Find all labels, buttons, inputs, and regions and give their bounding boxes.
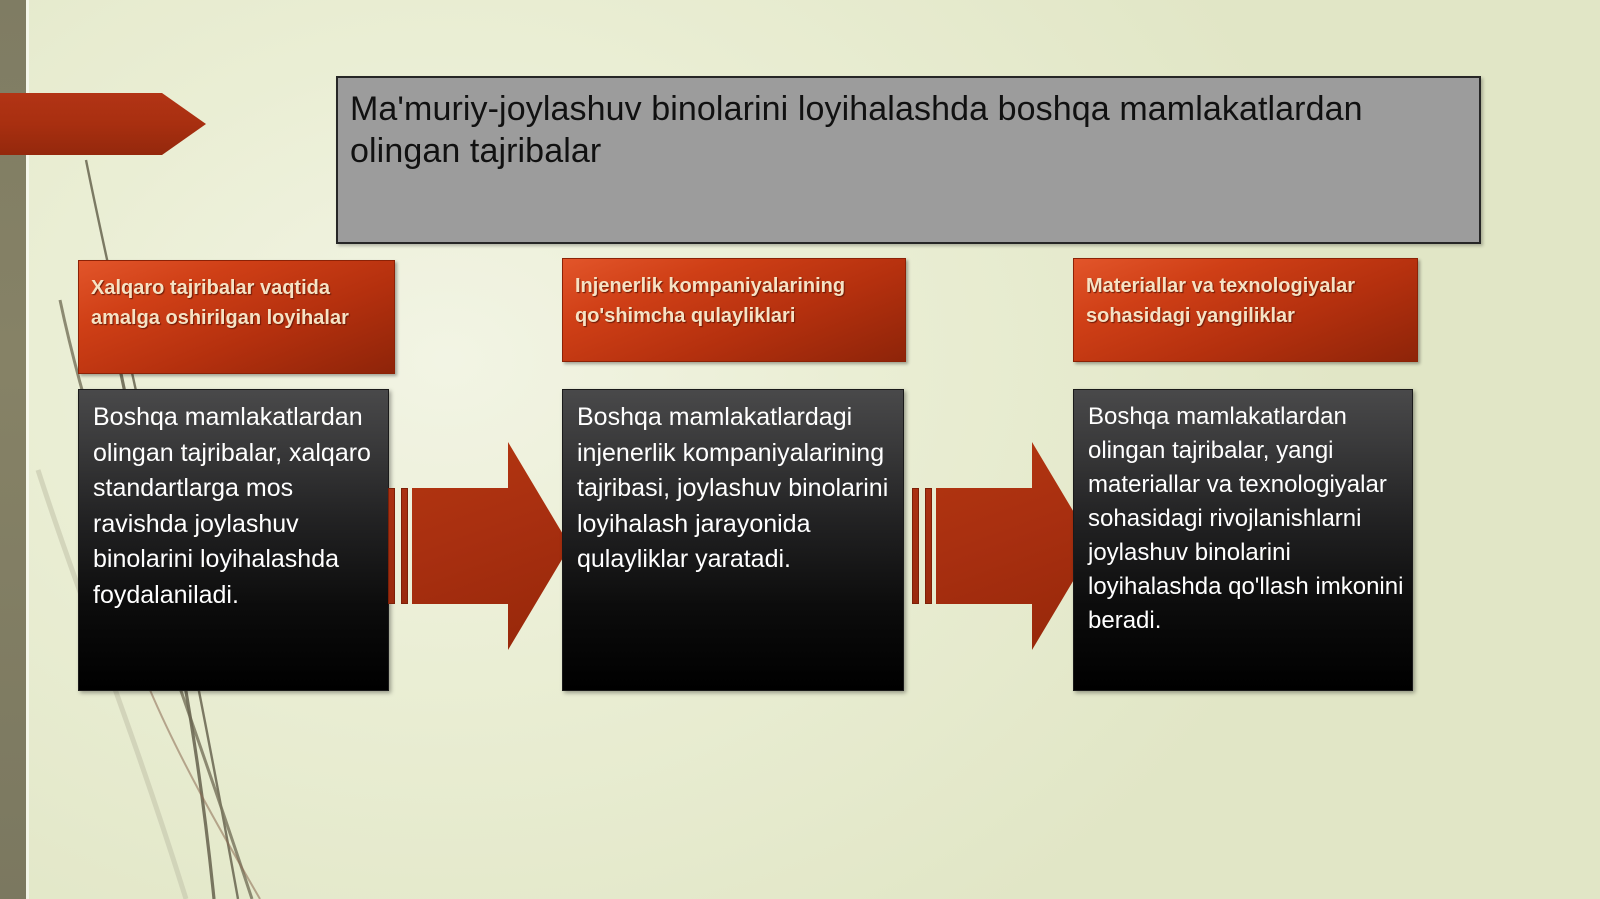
connector-tail-bar <box>925 488 932 604</box>
connector-tail-bar <box>401 488 408 604</box>
column-2-body: Boshqa mamlakatlardagi injenerlik kompan… <box>562 389 904 691</box>
page-title: Ma'muriy-joylashuv binolarini loyihalash… <box>350 89 1469 173</box>
connector-arrow-2 <box>912 442 1094 650</box>
slide-canvas: Ma'muriy-joylashuv binolarini loyihalash… <box>0 0 1600 899</box>
connector-tail-bar <box>912 488 919 604</box>
right-arrow-icon <box>936 442 1094 650</box>
column-2-header: Injenerlik kompaniyalarining qo'shimcha … <box>562 258 906 362</box>
red-chevron-shape <box>0 93 206 155</box>
column-3-header: Materiallar va texnologiyalar sohasidagi… <box>1073 258 1418 362</box>
connector-arrow-1 <box>388 442 570 650</box>
slide-title-box: Ma'muriy-joylashuv binolarini loyihalash… <box>336 76 1481 244</box>
column-1-body: Boshqa mamlakatlardan olingan tajribalar… <box>78 389 389 691</box>
column-3-body: Boshqa mamlakatlardan olingan tajribalar… <box>1073 389 1413 691</box>
connector-tail-bar <box>388 488 395 604</box>
column-1-header: Xalqaro tajribalar vaqtida amalga oshiri… <box>78 260 395 374</box>
right-arrow-icon <box>412 442 570 650</box>
